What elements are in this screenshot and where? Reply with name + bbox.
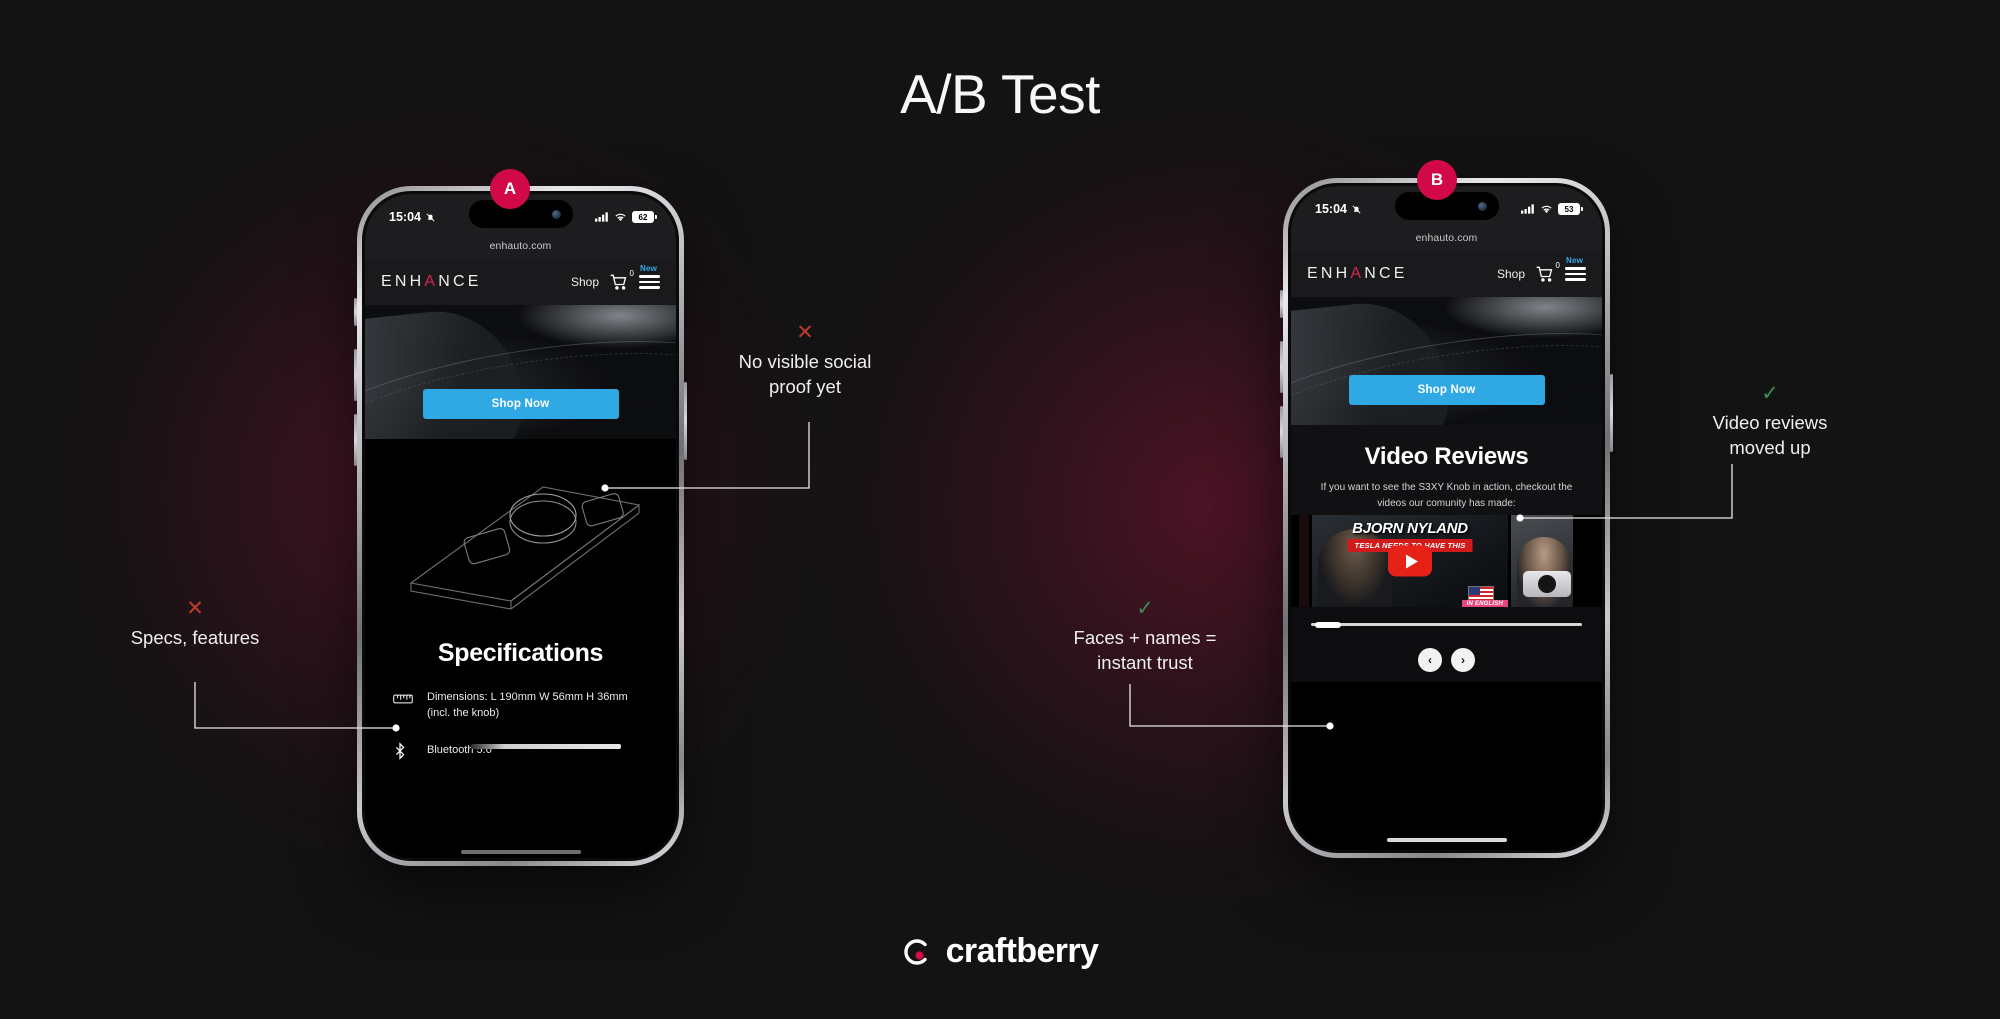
site-navbar-b: ENHANCE Shop 0 New [1291, 251, 1602, 297]
site-logo-a[interactable]: ENHANCE [381, 273, 482, 291]
bell-slash-icon-b [1351, 204, 1362, 215]
carousel-slide-previous[interactable] [1299, 515, 1309, 607]
video-channel-title: BJORN NYLAND [1352, 520, 1468, 537]
cart-count-a: 0 [630, 269, 634, 278]
carousel-slide-next[interactable] [1511, 515, 1573, 607]
annotation-video-reviews-moved-up: ✓ Video reviews moved up [1650, 383, 1890, 461]
phone-screen-a: 15:04 [365, 194, 676, 858]
silent-switch-a[interactable] [354, 298, 357, 326]
wifi-icon-b [1540, 204, 1553, 214]
annotation-faces-names-trust: ✓ Faces + names = instant trust [1030, 598, 1260, 676]
volume-down-button-b[interactable] [1280, 406, 1283, 458]
phone-mockup-b: 15:04 [1283, 178, 1610, 858]
volume-up-button-a[interactable] [354, 349, 357, 401]
battery-indicator-a: 62 [632, 211, 654, 223]
battery-indicator-b: 53 [1558, 203, 1580, 215]
home-indicator-b [1387, 838, 1507, 842]
spec-row: Dimensions: L 190mm W 56mm H 36mm (incl.… [393, 690, 648, 722]
hero-image-a: Shop Now [365, 305, 676, 439]
annotation-no-social-proof: ✕ No visible social proof yet [700, 322, 910, 400]
video-carousel[interactable]: BJORN NYLAND TESLA NEEDS TO HAVE THIS IN… [1291, 515, 1602, 607]
page-title: A/B Test [0, 62, 2000, 126]
volume-up-button-b[interactable] [1280, 341, 1283, 393]
ruler-icon [393, 690, 413, 711]
scrollbar-thumb[interactable] [1315, 622, 1341, 628]
knob-outline-icon [393, 465, 653, 615]
knob-product-thumb [1523, 571, 1571, 597]
video-reviews-heading: Video Reviews [1309, 443, 1584, 471]
phone-screen-b: 15:04 [1291, 186, 1602, 850]
shop-now-button-b[interactable]: Shop Now [1349, 375, 1545, 405]
menu-new-badge-a: New [640, 264, 657, 273]
site-logo-b[interactable]: ENHANCE [1307, 265, 1408, 283]
specifications-heading: Specifications [393, 639, 648, 668]
power-button-b[interactable] [1610, 374, 1613, 452]
annotation-cross-icon: ✕ [95, 598, 295, 619]
cellular-bars-icon-b [1521, 204, 1535, 214]
volume-down-button-a[interactable] [354, 414, 357, 466]
chevron-left-icon[interactable]: ‹ [1418, 648, 1442, 672]
annotation-text: Video reviews moved up [1713, 412, 1828, 458]
annotation-cross-icon: ✕ [700, 322, 910, 343]
chevron-right-icon[interactable]: › [1451, 648, 1475, 672]
url-label-a[interactable]: enhauto.com [365, 240, 676, 259]
shop-now-button-a[interactable]: Shop Now [423, 389, 619, 419]
hamburger-icon-b[interactable]: New [1565, 267, 1586, 281]
wifi-icon-a [614, 212, 627, 222]
site-navbar-a: ENHANCE Shop 0 New [365, 259, 676, 305]
craftberry-wordmark: craftberry [946, 932, 1099, 971]
url-label-b[interactable]: enhauto.com [1291, 232, 1602, 251]
carousel-slide-current[interactable]: BJORN NYLAND TESLA NEEDS TO HAVE THIS IN… [1312, 515, 1508, 607]
carousel-scrollbar[interactable] [1291, 607, 1602, 636]
carousel-controls: ‹ › [1291, 636, 1602, 682]
cart-icon-a[interactable]: 0 [609, 272, 629, 292]
craftberry-c-dot-logo-icon [902, 937, 932, 967]
status-time-a: 15:04 [389, 210, 421, 224]
bell-slash-icon-a [425, 212, 436, 223]
specifications-section-a: Specifications Dimensions: L 190mm W 56m… [365, 639, 676, 765]
us-flag-icon [1468, 586, 1494, 601]
annotation-check-icon: ✓ [1030, 598, 1260, 619]
nav-shop-link-b[interactable]: Shop [1497, 267, 1525, 281]
craftberry-brand: craftberry [0, 932, 2000, 971]
spec-row-partial: Bluetooth 5.0 [393, 740, 648, 765]
variant-badge-a: A [490, 169, 530, 209]
hamburger-icon-a[interactable]: New [639, 275, 660, 289]
silent-switch-b[interactable] [1280, 290, 1283, 318]
variant-badge-b: B [1417, 160, 1457, 200]
annotation-text: Faces + names = instant trust [1074, 627, 1217, 673]
cellular-bars-icon-a [595, 212, 609, 222]
status-time-b: 15:04 [1315, 202, 1347, 216]
power-button-a[interactable] [684, 382, 687, 460]
nav-shop-link-a[interactable]: Shop [571, 275, 599, 289]
phone-mockup-a: 15:04 [357, 186, 684, 866]
hero-image-b: Shop Now [1291, 297, 1602, 425]
video-reviews-section: Video Reviews If you want to see the S3X… [1291, 425, 1602, 515]
youtube-play-icon[interactable] [1388, 546, 1432, 577]
cart-icon-b[interactable]: 0 [1535, 264, 1555, 284]
spec-text: Dimensions: L 190mm W 56mm H 36mm (incl.… [427, 690, 648, 722]
annotation-specs-features: ✕ Specs, features [95, 598, 295, 651]
menu-new-badge-b: New [1566, 256, 1583, 265]
product-illustration-a [365, 439, 676, 639]
home-indicator-a [461, 850, 581, 854]
bluetooth-icon [393, 740, 413, 765]
cart-count-b: 0 [1556, 261, 1560, 270]
annotation-check-icon: ✓ [1650, 383, 1890, 404]
annotation-text: No visible social proof yet [739, 351, 872, 397]
video-language-tag: IN ENGLISH [1462, 600, 1508, 607]
annotation-text: Specs, features [131, 627, 260, 648]
video-reviews-subtext: If you want to see the S3XY Knob in acti… [1309, 480, 1584, 511]
